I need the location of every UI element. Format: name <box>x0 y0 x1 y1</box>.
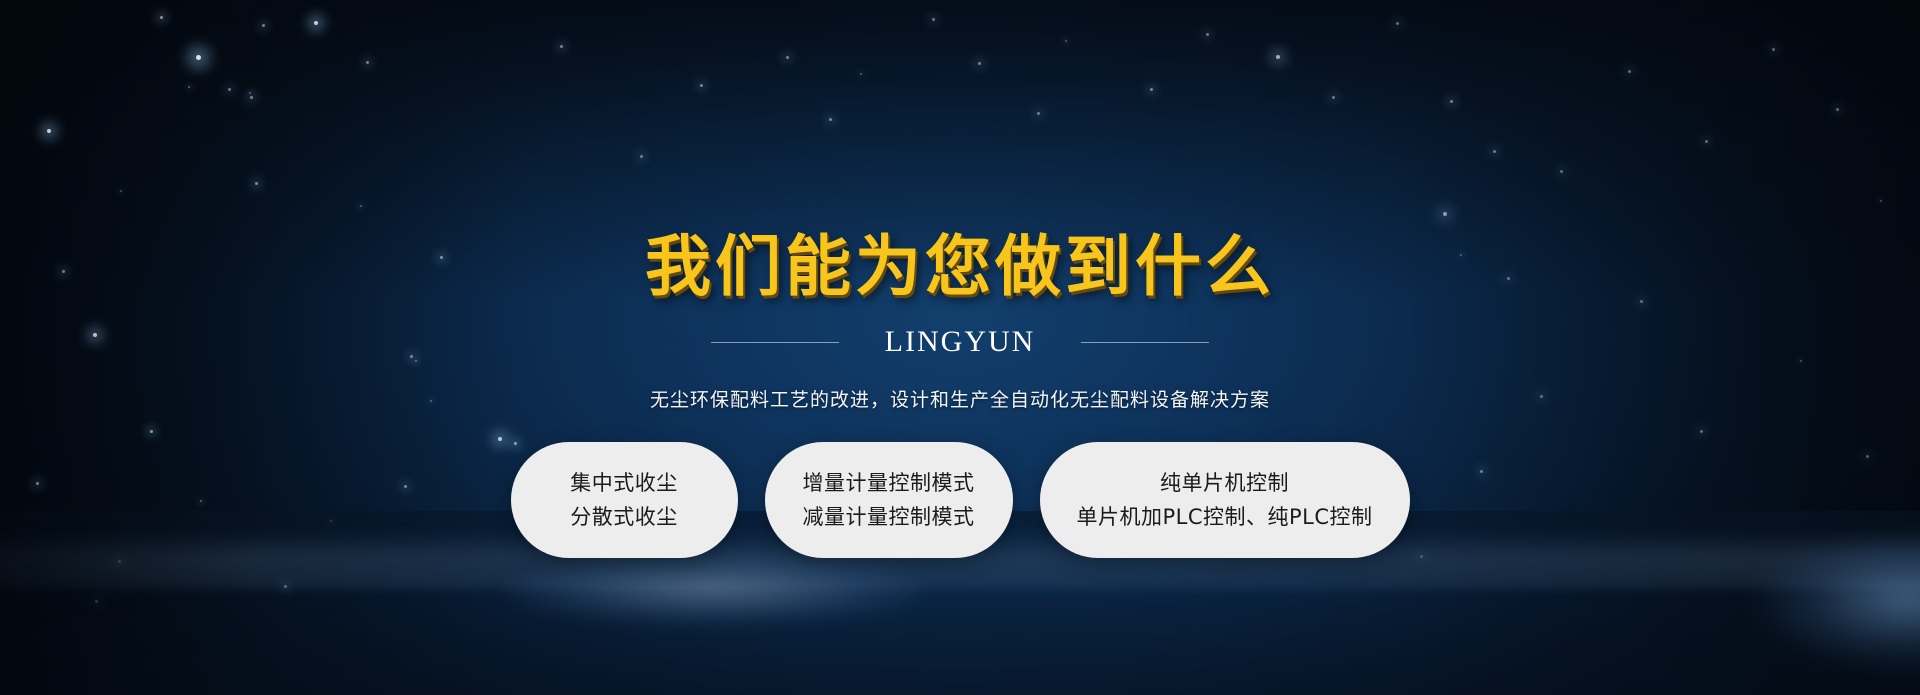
divider-line-left <box>711 342 839 343</box>
divider-line-right <box>1081 342 1209 343</box>
feature-card-list: 集中式收尘分散式收尘增量计量控制模式减量计量控制模式纯单片机控制单片机加PLC控… <box>0 442 1920 558</box>
brand-name-en: LINGYUN <box>885 322 1036 362</box>
feature-card-line: 分散式收尘 <box>570 500 678 534</box>
brand-subtitle-row: LINGYUN <box>0 322 1920 362</box>
banner-description: 无尘环保配料工艺的改进，设计和生产全自动化无尘配料设备解决方案 <box>0 386 1920 416</box>
banner-content: 我们能为您做到什么 LINGYUN 无尘环保配料工艺的改进，设计和生产全自动化无… <box>0 0 1920 695</box>
feature-card-control-system[interactable]: 纯单片机控制单片机加PLC控制、纯PLC控制 <box>1040 442 1410 558</box>
page-title: 我们能为您做到什么 <box>0 228 1920 306</box>
feature-card-line: 纯单片机控制 <box>1160 466 1289 500</box>
hero-banner: 我们能为您做到什么 LINGYUN 无尘环保配料工艺的改进，设计和生产全自动化无… <box>0 0 1920 695</box>
feature-card-dust-collection[interactable]: 集中式收尘分散式收尘 <box>511 442 738 558</box>
feature-card-metering-mode[interactable]: 增量计量控制模式减量计量控制模式 <box>765 442 1013 558</box>
feature-card-line: 集中式收尘 <box>570 466 678 500</box>
feature-card-line: 减量计量控制模式 <box>803 500 975 534</box>
feature-card-line: 单片机加PLC控制、纯PLC控制 <box>1076 500 1372 534</box>
feature-card-line: 增量计量控制模式 <box>803 466 975 500</box>
